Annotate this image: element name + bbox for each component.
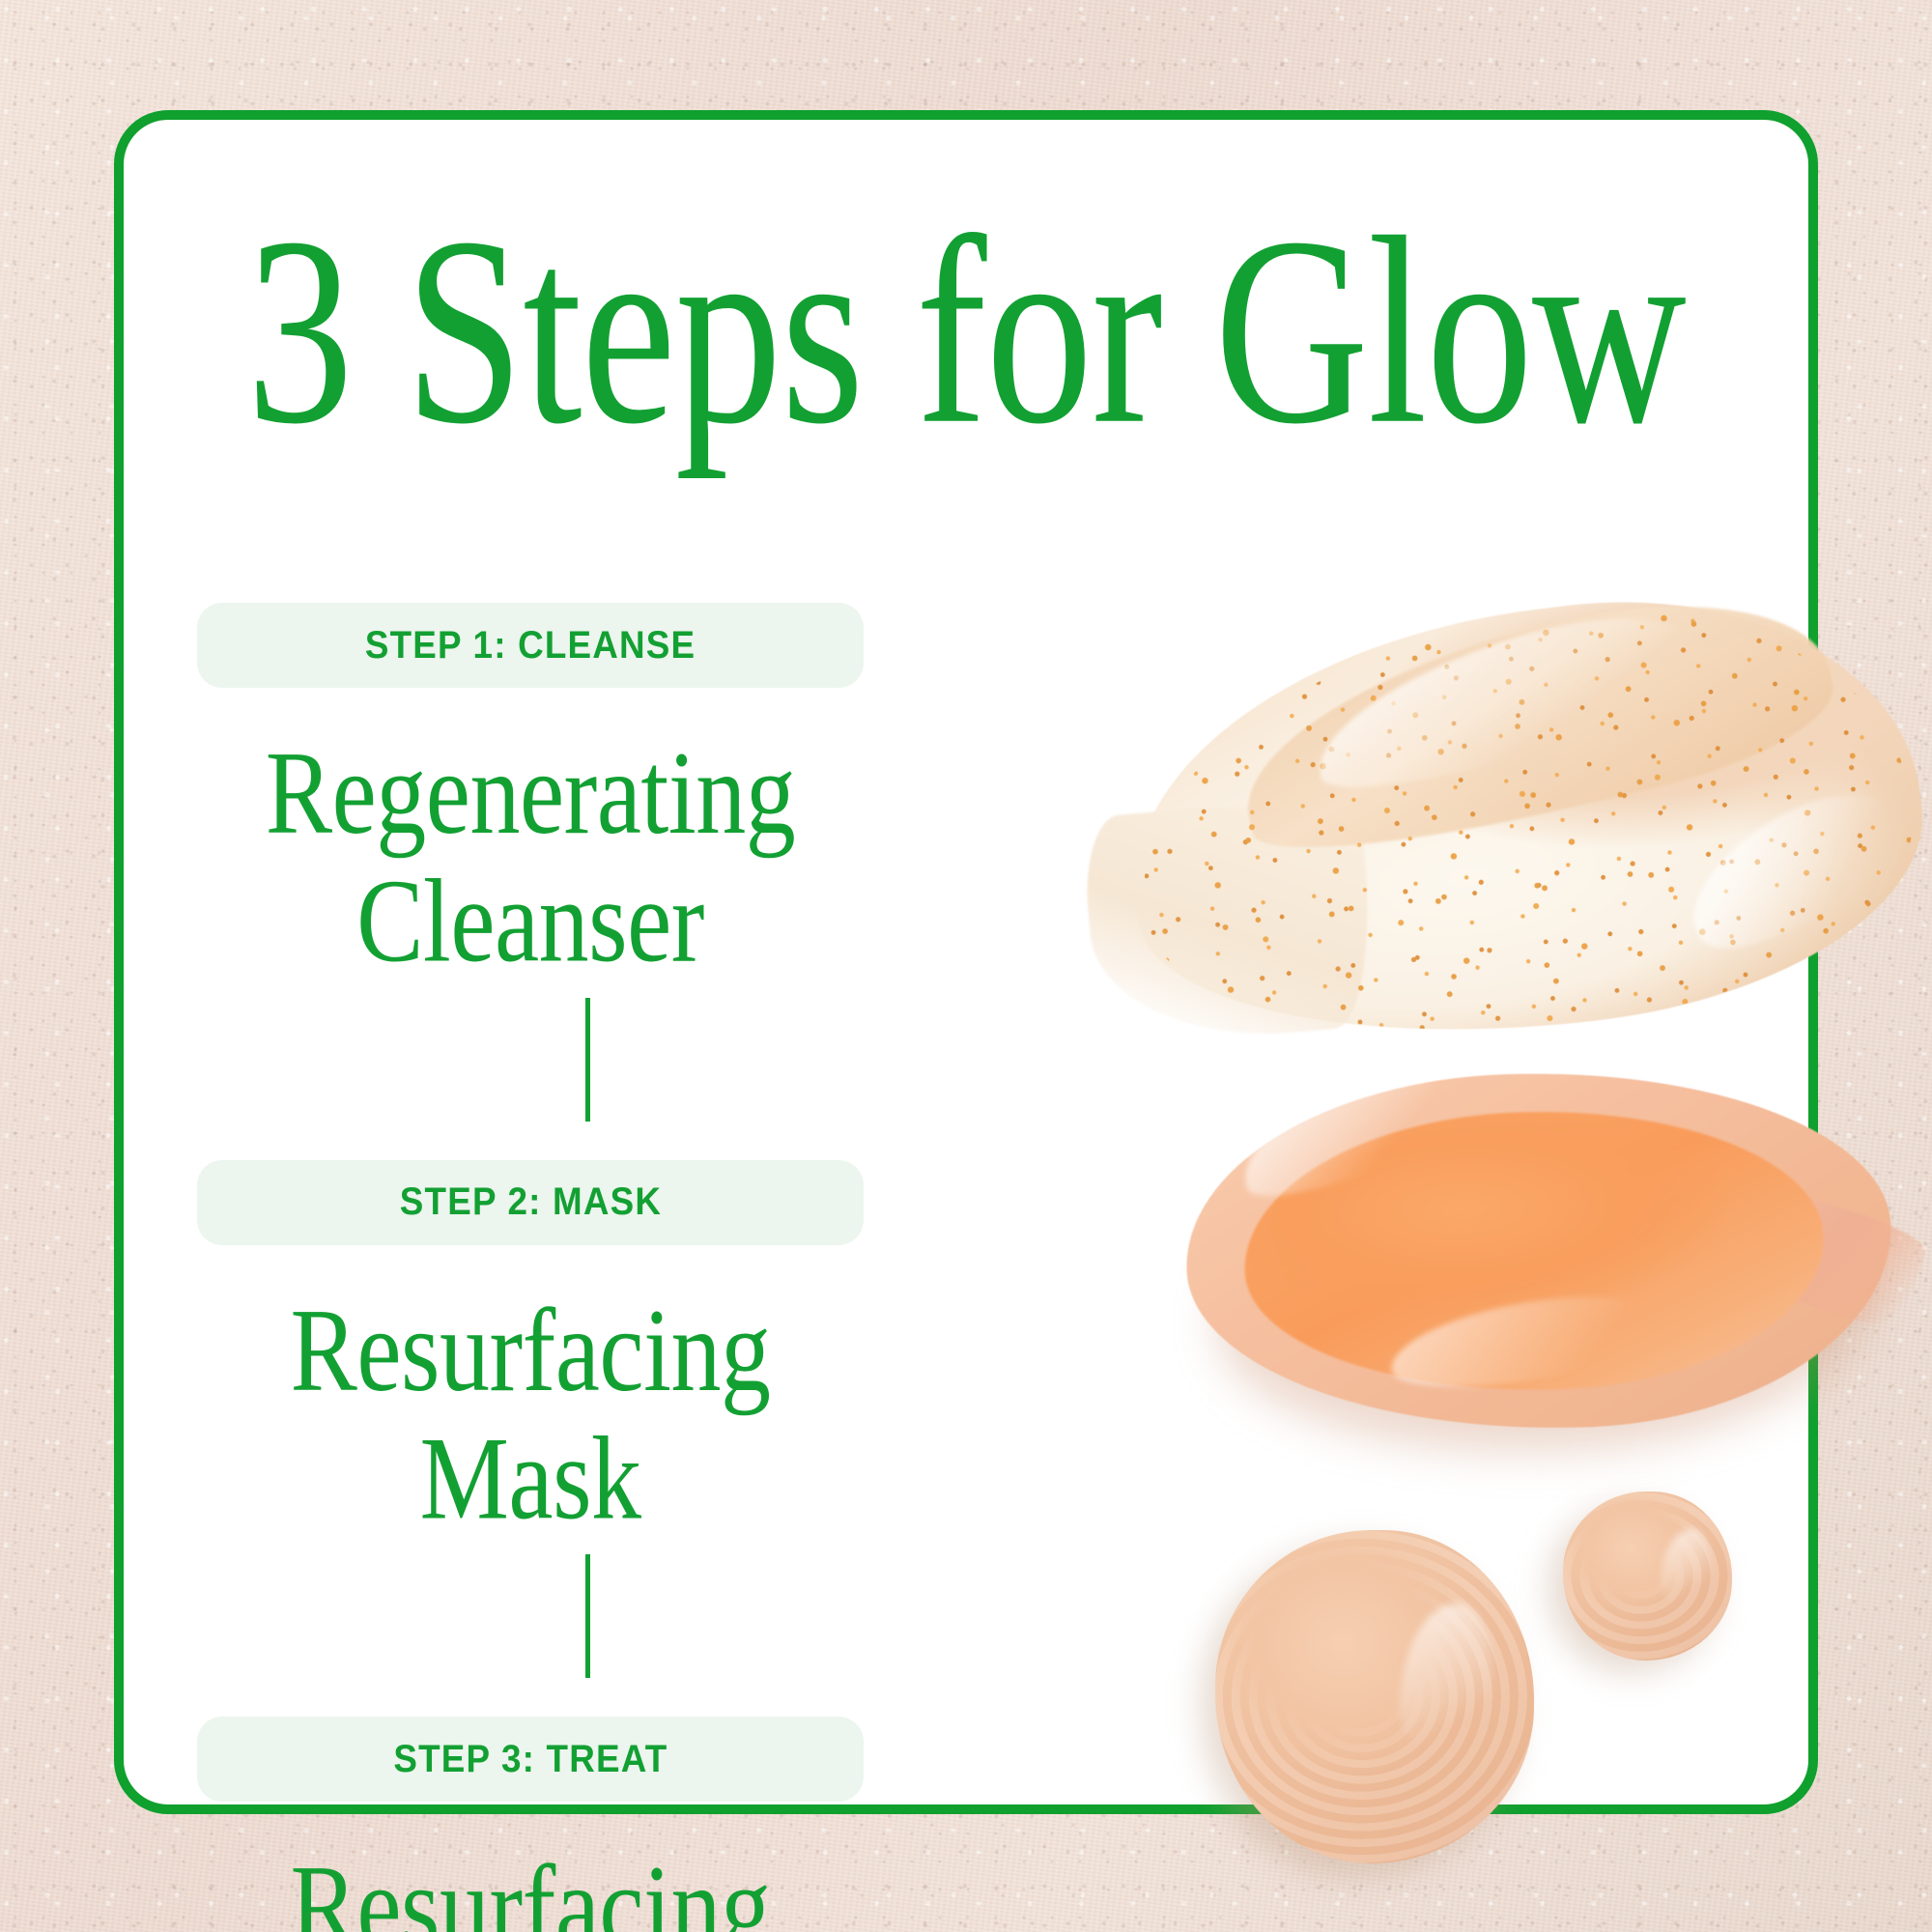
step-badge-3[interactable]: STEP 3: TREAT bbox=[197, 1717, 864, 1802]
mask-swatch-description: glossy orange gel blob bbox=[1167, 1062, 1168, 1063]
step-product-name-1: Regenerating Cleanser bbox=[191, 730, 869, 986]
serum-droplet-large-highlight bbox=[1400, 1604, 1495, 1757]
steps-list: STEP 1: CLEANSE Regenerating Cleanser ST… bbox=[191, 603, 983, 1932]
page-title: 3 Steps for Glow bbox=[149, 197, 1783, 466]
cleanser-highlight-1 bbox=[1299, 587, 1721, 810]
mask-highlight-1 bbox=[1227, 1055, 1465, 1212]
mask-gel-swatch: glossy orange gel blob bbox=[1167, 1062, 1932, 1477]
cleanser-smear-ridge bbox=[1222, 565, 1847, 879]
step-badge-1[interactable]: STEP 1: CLEANSE bbox=[197, 603, 864, 688]
cleanser-exfoliant-beads bbox=[1116, 577, 1932, 1073]
serum-swatch-description: two peach serum droplets bbox=[1215, 1472, 1216, 1473]
step-block-2: STEP 2: MASK Resurfacing Mask bbox=[191, 1160, 983, 1505]
mask-gel-rim bbox=[1180, 1061, 1897, 1440]
step-badge-label-3: STEP 3: TREAT bbox=[393, 1738, 668, 1781]
step-connector-1-2 bbox=[585, 998, 590, 1122]
serum-droplet-large bbox=[1215, 1530, 1534, 1863]
step-badge-label-1: STEP 1: CLEANSE bbox=[365, 624, 696, 668]
serum-droplet-small bbox=[1563, 1492, 1732, 1661]
cleanser-smear-body bbox=[1106, 566, 1932, 1075]
step-badge-2[interactable]: STEP 2: MASK bbox=[197, 1160, 864, 1245]
step-product-name-3: Resurfacing Serum bbox=[191, 1844, 869, 1932]
step-block-3: STEP 3: TREAT Resurfacing Serum bbox=[191, 1717, 983, 1932]
serum-droplet-small-highlight bbox=[1662, 1529, 1713, 1607]
serum-droplet-small-shadow bbox=[1548, 1505, 1717, 1674]
cleanser-smear-swatch: cream smear with orange exfoliating bead… bbox=[1099, 603, 1932, 1057]
mask-highlight-2 bbox=[1384, 1283, 1663, 1402]
serum-droplet-small-body bbox=[1563, 1492, 1732, 1661]
step-connector-2-3 bbox=[585, 1554, 590, 1678]
mask-gel-core bbox=[1239, 1102, 1829, 1401]
serum-droplet-large-body bbox=[1215, 1530, 1534, 1863]
mask-gel-shadow bbox=[1207, 1117, 1880, 1469]
step-product-name-2: Resurfacing Mask bbox=[191, 1288, 869, 1544]
step-block-1: STEP 1: CLEANSE Regenerating Cleanser bbox=[191, 603, 983, 948]
step-badge-label-2: STEP 2: MASK bbox=[399, 1180, 661, 1224]
cleanser-swatch-description: cream smear with orange exfoliating bead… bbox=[1099, 603, 1100, 604]
content-card: 3 Steps for Glow STEP 1: CLEANSE Regener… bbox=[114, 110, 1818, 1814]
cleanser-smear-tail bbox=[1080, 794, 1379, 1049]
